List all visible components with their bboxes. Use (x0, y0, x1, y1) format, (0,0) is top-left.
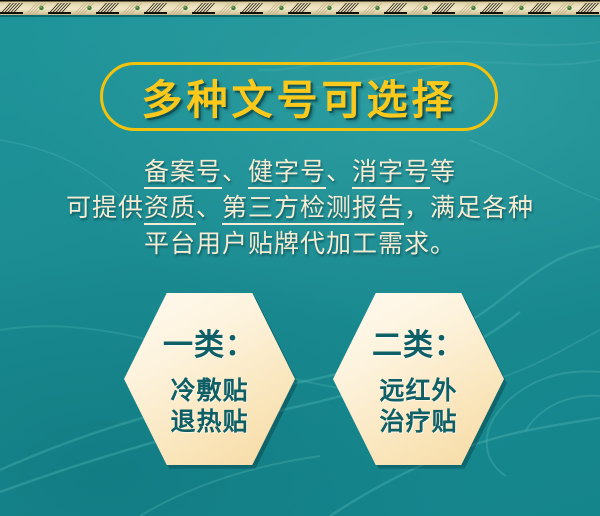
border-band-underline (0, 15, 600, 17)
hexagon-class-two-item-1: 远红外 (379, 376, 457, 407)
page-title: 多种文号可选择 (142, 66, 457, 126)
description-line-1: 备案号、健字号、消字号等 (0, 155, 600, 191)
sep-1: 、 (222, 159, 248, 186)
promo-poster: 多种文号可选择 备案号、健字号、消字号等 可提供资质、第三方检测报告，满足各种 … (0, 0, 600, 516)
category-hexagon-row: 一类： 冷敷贴 退热贴 二类： 远红外 治疗贴 (0, 293, 600, 468)
term-third-party-report: 第三方检测报告 (222, 195, 404, 225)
sep-2: 、 (326, 159, 352, 186)
hexagon-class-one-item-1: 冷敷贴 (170, 376, 248, 407)
description-line-3: 平台用户贴牌代加工需求。 (0, 227, 600, 263)
suffix-deng: 等 (430, 159, 456, 186)
term-beianhao: 备案号 (144, 159, 222, 189)
term-zizhi: 资质 (144, 195, 196, 225)
line-3-text: 平台用户贴牌代加工需求。 (144, 231, 456, 258)
title-frame: 多种文号可选择 (100, 62, 498, 131)
term-xiaozihao: 消字号 (352, 159, 430, 189)
ornamental-top-border (0, 0, 600, 17)
prefix-ketigong: 可提供 (66, 195, 144, 222)
term-jianzihao: 健字号 (248, 159, 326, 189)
hexagon-class-two-title: 二类： (372, 320, 465, 364)
hexagon-class-one-title: 一类： (163, 320, 256, 364)
suffix-manzu: ，满足各种 (404, 195, 534, 222)
description-paragraph: 备案号、健字号、消字号等 可提供资质、第三方检测报告，满足各种 平台用户贴牌代加… (0, 155, 600, 263)
hexagon-class-one-item-2: 退热贴 (170, 407, 248, 438)
hexagon-class-two-item-2: 治疗贴 (379, 407, 457, 438)
description-line-2: 可提供资质、第三方检测报告，满足各种 (0, 191, 600, 227)
sep-3: 、 (196, 195, 222, 222)
